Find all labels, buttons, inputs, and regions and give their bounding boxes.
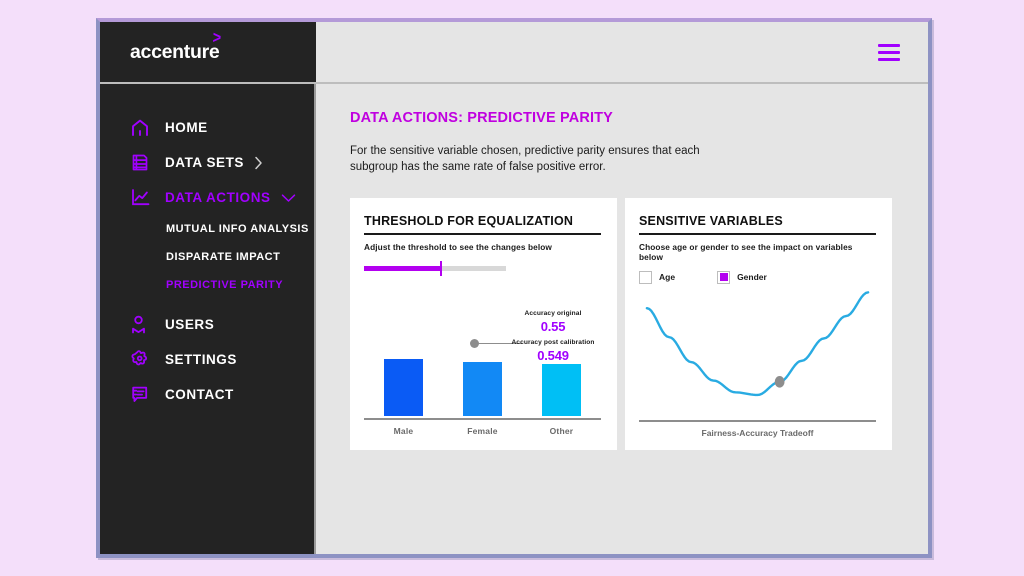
bar-male (384, 359, 423, 416)
chevron-right-icon[interactable] (254, 156, 263, 170)
bar-other (542, 364, 581, 416)
page-description: For the sensitive variable chosen, predi… (350, 143, 700, 176)
hamburger-bar-3 (878, 58, 900, 61)
threshold-for-equalization-card: THRESHOLD FOR EQUALIZATION Adjust the th… (350, 198, 617, 450)
bar-label: Female (443, 426, 522, 436)
fairness-accuracy-curve-chart (639, 270, 876, 420)
hamburger-menu-icon[interactable] (874, 40, 904, 65)
accuracy-bar-chart (364, 300, 601, 416)
sidebar-item-data-sets[interactable]: DATA SETS (100, 145, 314, 180)
tradeoff-curve (647, 292, 868, 395)
sidebar-item-contact[interactable]: CONTACT (100, 377, 314, 412)
hamburger-bar-1 (878, 44, 900, 47)
card-title: THRESHOLD FOR EQUALIZATION (364, 214, 601, 228)
hamburger-bar-2 (878, 51, 900, 54)
slider-fill (364, 266, 441, 271)
sidebar-spacer (100, 299, 314, 307)
sidebar-subitem-label: MUTUAL INFO ANALYSIS (166, 223, 309, 235)
curve-chart-axis (639, 420, 876, 422)
greater-than-arrow-icon: > (212, 29, 221, 46)
sidebar-item-label: CONTACT (165, 387, 234, 402)
chevron-down-icon[interactable] (281, 193, 296, 203)
card-title: SENSITIVE VARIABLES (639, 214, 876, 228)
home-icon (130, 117, 154, 139)
bar-column-other (522, 300, 600, 416)
bar-chart-plot-area (364, 300, 601, 416)
gear-icon (130, 349, 154, 371)
chart-line-icon (130, 187, 154, 209)
brand-wordmark: accenture > (130, 41, 219, 64)
sidebar: HOME DATA SETS (100, 84, 316, 554)
sidebar-subitem-disparate-impact[interactable]: DISPARATE IMPACT (100, 243, 314, 271)
sidebar-item-home[interactable]: HOME (100, 110, 314, 145)
bar-column-female (443, 300, 521, 416)
bar-label: Male (364, 426, 443, 436)
top-bar-right (316, 22, 928, 82)
database-icon (130, 152, 154, 174)
main-content: DATA ACTIONS: PREDICTIVE PARITY For the … (316, 84, 928, 554)
sensitive-variables-card: SENSITIVE VARIABLES Choose age or gender… (625, 198, 892, 450)
sidebar-subitem-label: DISPARATE IMPACT (166, 251, 280, 263)
sidebar-item-label: SETTINGS (165, 352, 237, 367)
sidebar-item-settings[interactable]: SETTINGS (100, 342, 314, 377)
brand-wordmark-text: accenture (130, 41, 219, 63)
sidebar-item-label: DATA SETS (165, 155, 244, 170)
title-divider (639, 233, 876, 235)
sidebar-item-label: USERS (165, 317, 214, 332)
user-icon (130, 314, 154, 336)
sidebar-item-users[interactable]: USERS (100, 307, 314, 342)
bar-chart-axis (364, 418, 601, 420)
brand-logo[interactable]: accenture > (100, 22, 316, 82)
threshold-slider[interactable] (364, 261, 601, 275)
page-title: DATA ACTIONS: PREDICTIVE PARITY (350, 110, 898, 126)
body-split: HOME DATA SETS (100, 84, 928, 554)
sidebar-subitem-mutual-info-analysis[interactable]: MUTUAL INFO ANALYSIS (100, 215, 314, 243)
bar-column-male (364, 300, 442, 416)
top-bar: accenture > (100, 22, 928, 84)
curve-position-marker[interactable] (775, 376, 785, 388)
sidebar-subitem-predictive-parity[interactable]: PREDICTIVE PARITY (100, 271, 314, 299)
bar-chart-labels: Male Female Other (364, 426, 601, 436)
sidebar-item-label: DATA ACTIONS (165, 190, 271, 205)
slider-handle[interactable] (440, 261, 443, 276)
app-window: accenture > HOME (96, 18, 932, 558)
title-divider (364, 233, 601, 235)
card-subtitle: Adjust the threshold to see the changes … (364, 242, 601, 252)
curve-svg (639, 270, 876, 420)
cards-row: THRESHOLD FOR EQUALIZATION Adjust the th… (350, 198, 898, 450)
curve-chart-caption: Fairness-Accuracy Tradeoff (639, 428, 876, 438)
card-subtitle: Choose age or gender to see the impact o… (639, 242, 876, 262)
sidebar-item-data-actions[interactable]: DATA ACTIONS (100, 180, 314, 215)
bar-label: Other (522, 426, 601, 436)
chat-bubble-icon (130, 384, 154, 406)
sidebar-subitem-label: PREDICTIVE PARITY (166, 279, 283, 291)
sidebar-item-label: HOME (165, 120, 208, 135)
bar-female (463, 362, 502, 416)
